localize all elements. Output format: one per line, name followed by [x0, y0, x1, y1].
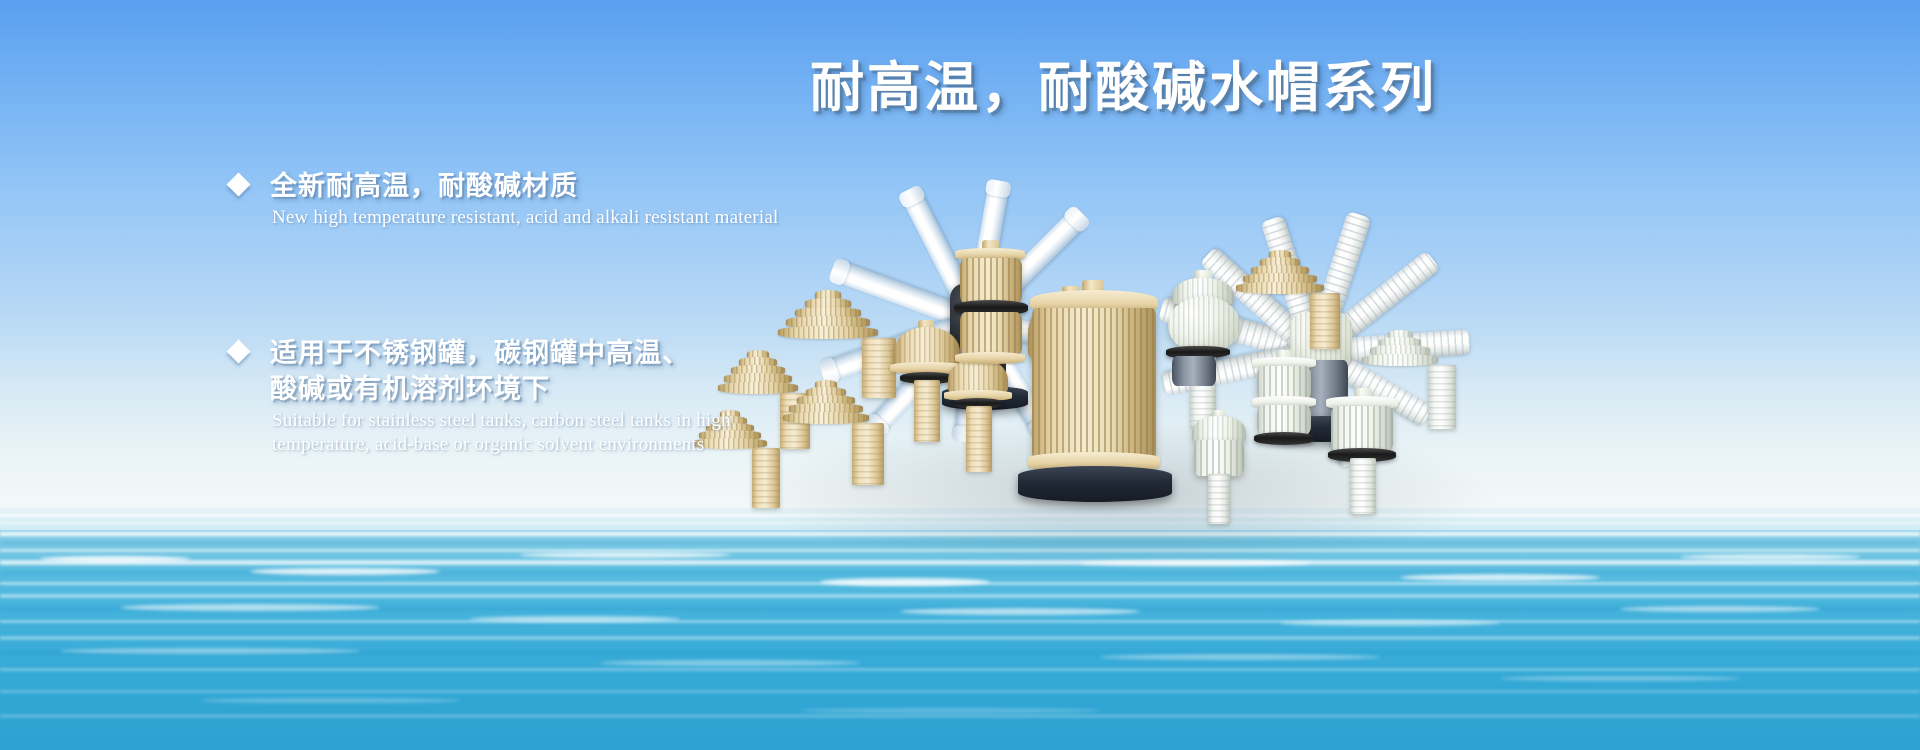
- feature-2-title-en-line2: temperature, acid-base or organic solven…: [272, 433, 850, 456]
- base-flange-dark: [1018, 466, 1172, 502]
- feature-item-1: 全新耐高温，耐酸碱材质 New high temperature resista…: [230, 168, 850, 229]
- feature-list: 全新耐高温，耐酸碱材质 New high temperature resista…: [230, 168, 850, 456]
- promo-banner: 耐高温，耐酸碱水帽系列 全新耐高温，耐酸碱材质 New high tempera…: [0, 0, 1920, 750]
- feature-2-title-cn-line1: 适用于不锈钢罐，碳钢罐中高温、: [270, 335, 850, 372]
- feature-2-title-cn-line2: 酸碱或有机溶剂环境下: [270, 371, 850, 408]
- feature-1-title-en: New high temperature resistant, acid and…: [272, 206, 850, 229]
- page-title: 耐高温，耐酸碱水帽系列: [810, 58, 1530, 117]
- diamond-bullet-icon: [226, 172, 250, 196]
- feature-2-title-en-line1: Suitable for stainless steel tanks, carb…: [272, 409, 850, 432]
- feature-item-2: 适用于不锈钢罐，碳钢罐中高温、 酸碱或有机溶剂环境下 Suitable for …: [230, 335, 850, 456]
- feature-1-title-cn: 全新耐高温，耐酸碱材质: [270, 168, 850, 205]
- diamond-bullet-icon: [226, 340, 250, 364]
